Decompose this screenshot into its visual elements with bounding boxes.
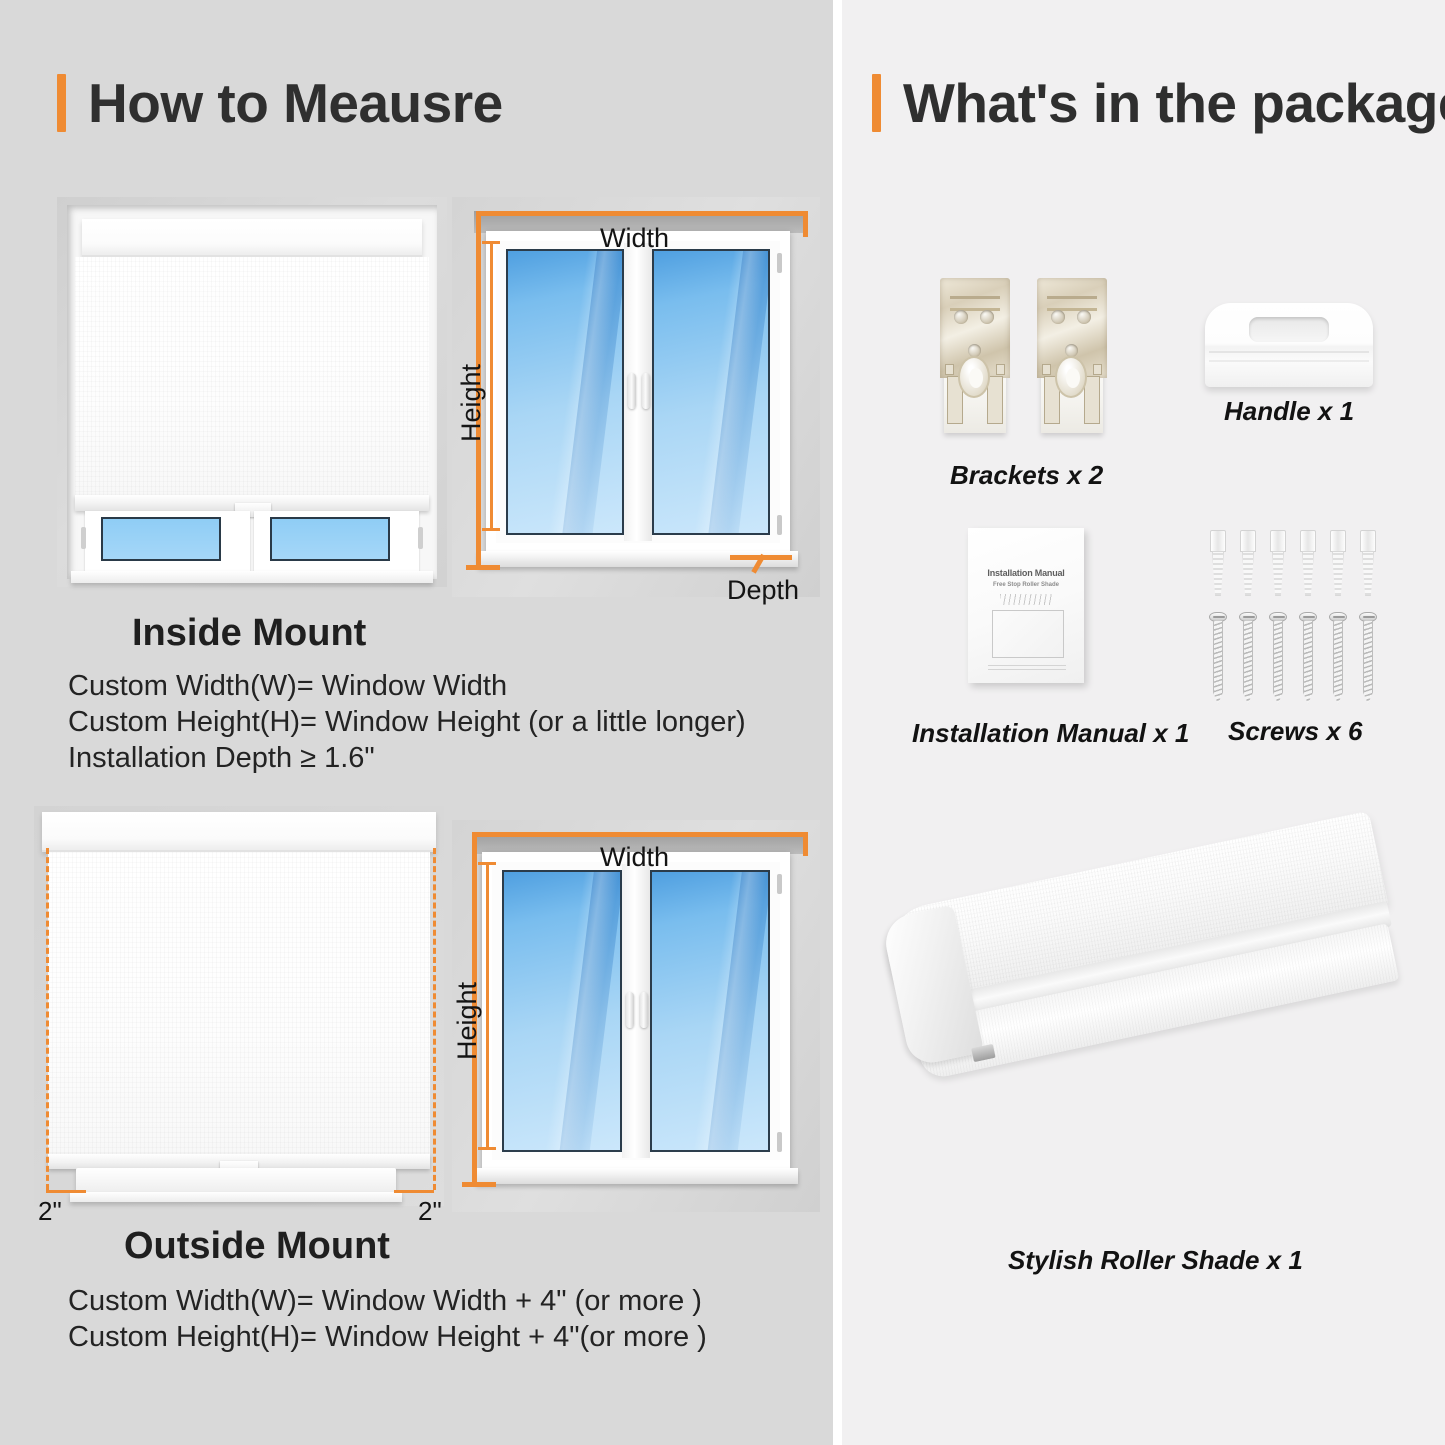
outside-shade-fabric xyxy=(48,852,430,1158)
height-mark-line-2 xyxy=(486,862,489,1150)
shade-fabric xyxy=(75,257,429,497)
overhang-arrow-right xyxy=(394,1190,434,1193)
height-endcap-top xyxy=(482,241,500,244)
screw xyxy=(1329,612,1347,704)
manual-cover-title: Installation Manual xyxy=(968,568,1084,578)
installation-manual-label: Installation Manual x 1 xyxy=(912,718,1189,749)
inside-mount-spec-1: Custom Width(W)= Window Width xyxy=(68,670,507,703)
width-mark-top-2 xyxy=(472,832,808,837)
window-handle-left-icon-2 xyxy=(626,992,634,1028)
installation-manual-product: Installation Manual Free Stop Roller Sha… xyxy=(968,528,1084,683)
wall-anchor xyxy=(1208,530,1228,596)
bracket-hole-b2 xyxy=(1077,310,1091,324)
inside-mount-spec-3: Installation Depth ≥ 1.6" xyxy=(68,742,375,775)
height-label: Height xyxy=(456,364,487,442)
screw xyxy=(1209,612,1227,704)
height-endcap-bottom-2 xyxy=(478,1147,496,1150)
bracket-hole-b1 xyxy=(980,310,994,324)
window-hinge-right-icon xyxy=(418,527,423,549)
accent-bar-icon xyxy=(57,74,66,132)
bracket-item-1 xyxy=(938,278,1012,433)
window-hinge-top-icon-2 xyxy=(777,874,782,894)
window-hinge-bottom-icon-2 xyxy=(777,1132,782,1152)
window-pane-right xyxy=(652,249,770,535)
window-glass-left xyxy=(101,517,221,561)
wall-anchor xyxy=(1358,530,1378,596)
inside-mount-title: Inside Mount xyxy=(132,612,366,655)
window-pane-left-2 xyxy=(502,870,622,1152)
outside-shade-cassette xyxy=(42,812,436,852)
height-endcap-bottom xyxy=(482,528,500,531)
window-hinge-top-icon xyxy=(777,253,782,273)
brackets-label: Brackets x 2 xyxy=(950,460,1103,491)
page-title-left: How to Meausre xyxy=(88,76,503,131)
outside-mount-shade-illustration xyxy=(34,806,444,1206)
wall-anchor xyxy=(1268,530,1288,596)
overhang-arrow-left xyxy=(46,1190,86,1193)
bracket-slot-l1 xyxy=(945,364,954,375)
outside-window-sill-shadow xyxy=(70,1192,402,1202)
window-sill xyxy=(71,571,433,583)
outside-mount-spec-2: Custom Height(H)= Window Height + 4"(or … xyxy=(68,1321,707,1354)
width-label: Width xyxy=(600,223,669,254)
height-label-2: Height xyxy=(452,982,483,1060)
manual-cover-footer-lines xyxy=(988,662,1066,670)
manual-cover-scribble xyxy=(1000,594,1052,605)
manual-cover-diagram xyxy=(992,610,1064,658)
width-endcap-right xyxy=(803,211,808,237)
outside-mount-spec-1: Custom Width(W)= Window Width + 4" (or m… xyxy=(68,1285,702,1318)
wall-anchor xyxy=(1298,530,1318,596)
height-endcap-top-2 xyxy=(478,862,496,865)
outside-mount-measure-window: Width Height xyxy=(452,820,820,1212)
window-pane-left xyxy=(506,249,624,535)
window-sill-ledge-2 xyxy=(476,1168,798,1184)
window-handle-right-icon-2 xyxy=(640,992,648,1028)
handle-label: Handle x 1 xyxy=(1224,396,1354,427)
accent-bar-icon-2 xyxy=(872,74,881,132)
bracket-tab-r2 xyxy=(1084,376,1100,424)
height-outer-endcap-bottom xyxy=(466,565,500,570)
window-pane-right-2 xyxy=(650,870,770,1152)
overhang-guide-left xyxy=(46,848,49,1190)
window-glass-right xyxy=(270,517,390,561)
bracket-keyhole-2 xyxy=(1055,356,1087,398)
shade-cassette xyxy=(82,219,422,257)
screw xyxy=(1239,612,1257,704)
bracket-item-2 xyxy=(1035,278,1109,433)
manual-cover-subtitle: Free Stop Roller Shade xyxy=(968,582,1084,588)
page-title-right: What's in the package xyxy=(903,76,1445,131)
width-label-2: Width xyxy=(600,842,669,873)
height-mark-line xyxy=(490,241,493,531)
screws-label: Screws x 6 xyxy=(1228,716,1362,747)
bracket-hole-a1 xyxy=(954,310,968,324)
screw xyxy=(1359,612,1377,704)
overhang-right-label: 2" xyxy=(418,1196,442,1227)
whats-in-package-heading: What's in the package xyxy=(872,74,1445,132)
bracket-slot-r1 xyxy=(996,364,1005,375)
bracket-slot-l2 xyxy=(1042,364,1051,375)
window-handle-right-icon xyxy=(642,373,650,409)
outside-mount-title: Outside Mount xyxy=(124,1225,390,1268)
inside-mount-spec-2: Custom Height(H)= Window Height (or a li… xyxy=(68,706,746,739)
overhang-left-label: 2" xyxy=(38,1196,62,1227)
width-mark-top xyxy=(476,211,808,216)
depth-label: Depth xyxy=(727,575,799,606)
roller-shade-label: Stylish Roller Shade x 1 xyxy=(1008,1245,1303,1276)
outside-window-sill xyxy=(76,1168,396,1194)
window-hinge-left-icon xyxy=(81,527,86,549)
wall-anchor xyxy=(1238,530,1258,596)
screw xyxy=(1269,612,1287,704)
height-outer-endcap-bottom-2 xyxy=(462,1182,496,1187)
how-to-measure-heading: How to Meausre xyxy=(57,74,503,132)
roller-shade-product xyxy=(905,900,1425,1220)
overhang-guide-right xyxy=(433,848,436,1190)
bracket-hole-a2 xyxy=(1051,310,1065,324)
window-hinge-bottom-icon xyxy=(777,515,782,535)
bracket-tab-r1 xyxy=(987,376,1003,424)
inside-mount-measure-window: Width Height Depth xyxy=(452,197,820,597)
wall-anchor xyxy=(1328,530,1348,596)
window-handle-left-icon xyxy=(628,373,636,409)
handle-product xyxy=(1205,303,1373,387)
panel-divider xyxy=(833,0,842,1445)
bracket-keyhole-1 xyxy=(958,356,990,398)
infographic-page: How to Meausre xyxy=(0,0,1445,1445)
bracket-slot-r2 xyxy=(1093,364,1102,375)
width-endcap-right-2 xyxy=(803,832,808,856)
inside-mount-shade-illustration xyxy=(57,197,447,587)
screw xyxy=(1299,612,1317,704)
